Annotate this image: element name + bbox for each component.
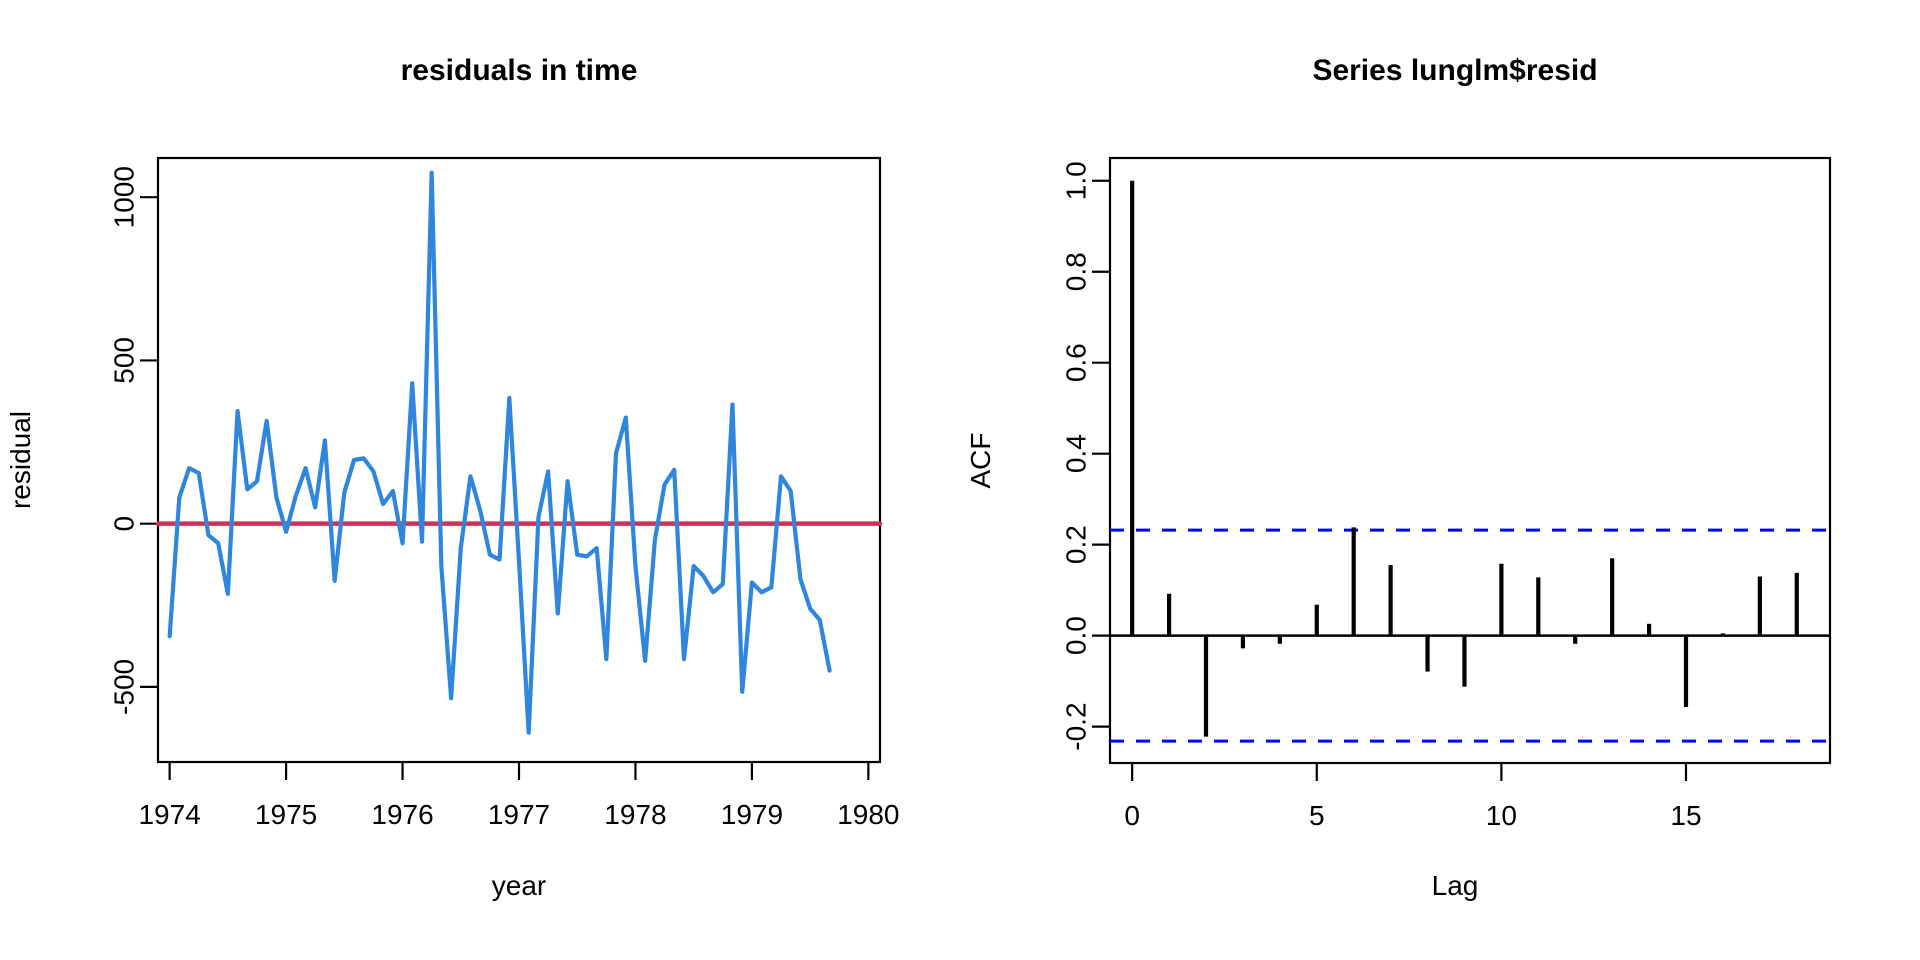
- acf-y-tick-label: 0.6: [1061, 343, 1092, 382]
- plot-page: residuals in time-5000500100019741975197…: [0, 0, 1920, 960]
- right-y-axis-label: ACF: [965, 433, 996, 489]
- left-x-tick-label: 1975: [255, 799, 317, 830]
- acf-y-tick-label: 0.0: [1061, 616, 1092, 655]
- acf-panel: Series lunglm$resid-0.20.00.20.40.60.81.…: [960, 0, 1920, 960]
- left-y-tick-label: 1000: [109, 166, 140, 228]
- acf-y-tick-label: 0.4: [1061, 434, 1092, 473]
- acf-x-tick-label: 0: [1124, 800, 1140, 831]
- acf-y-tick-label: -0.2: [1061, 702, 1092, 750]
- acf-y-tick-label: 0.8: [1061, 252, 1092, 291]
- left-plot-frame: [158, 158, 880, 762]
- left-y-tick-label: 500: [109, 337, 140, 384]
- acf-x-tick-label: 10: [1486, 800, 1517, 831]
- residuals-time-chart: residuals in time-5000500100019741975197…: [0, 0, 960, 960]
- left-y-tick-label: 0: [109, 516, 140, 532]
- left-x-axis-label: year: [492, 870, 546, 901]
- left-y-axis-label: residual: [5, 411, 36, 509]
- acf-x-tick-label: 15: [1670, 800, 1701, 831]
- right-plot-title: Series lunglm$resid: [1312, 54, 1597, 87]
- left-y-tick-label: -500: [109, 659, 140, 715]
- left-plot-title: residuals in time: [401, 54, 638, 87]
- acf-x-tick-label: 5: [1309, 800, 1325, 831]
- left-x-tick-label: 1979: [721, 799, 783, 830]
- right-x-axis-label: Lag: [1432, 870, 1479, 901]
- left-x-tick-label: 1974: [138, 799, 200, 830]
- acf-chart: Series lunglm$resid-0.20.00.20.40.60.81.…: [960, 0, 1920, 960]
- right-plot-frame: [1110, 158, 1830, 763]
- left-x-tick-label: 1976: [371, 799, 433, 830]
- left-x-tick-label: 1977: [488, 799, 550, 830]
- left-x-tick-label: 1978: [604, 799, 666, 830]
- acf-y-tick-label: 0.2: [1061, 525, 1092, 564]
- acf-y-tick-label: 1.0: [1061, 161, 1092, 200]
- left-x-tick-label: 1980: [837, 799, 899, 830]
- residuals-time-panel: residuals in time-5000500100019741975197…: [0, 0, 960, 960]
- residual-series-line: [170, 173, 830, 733]
